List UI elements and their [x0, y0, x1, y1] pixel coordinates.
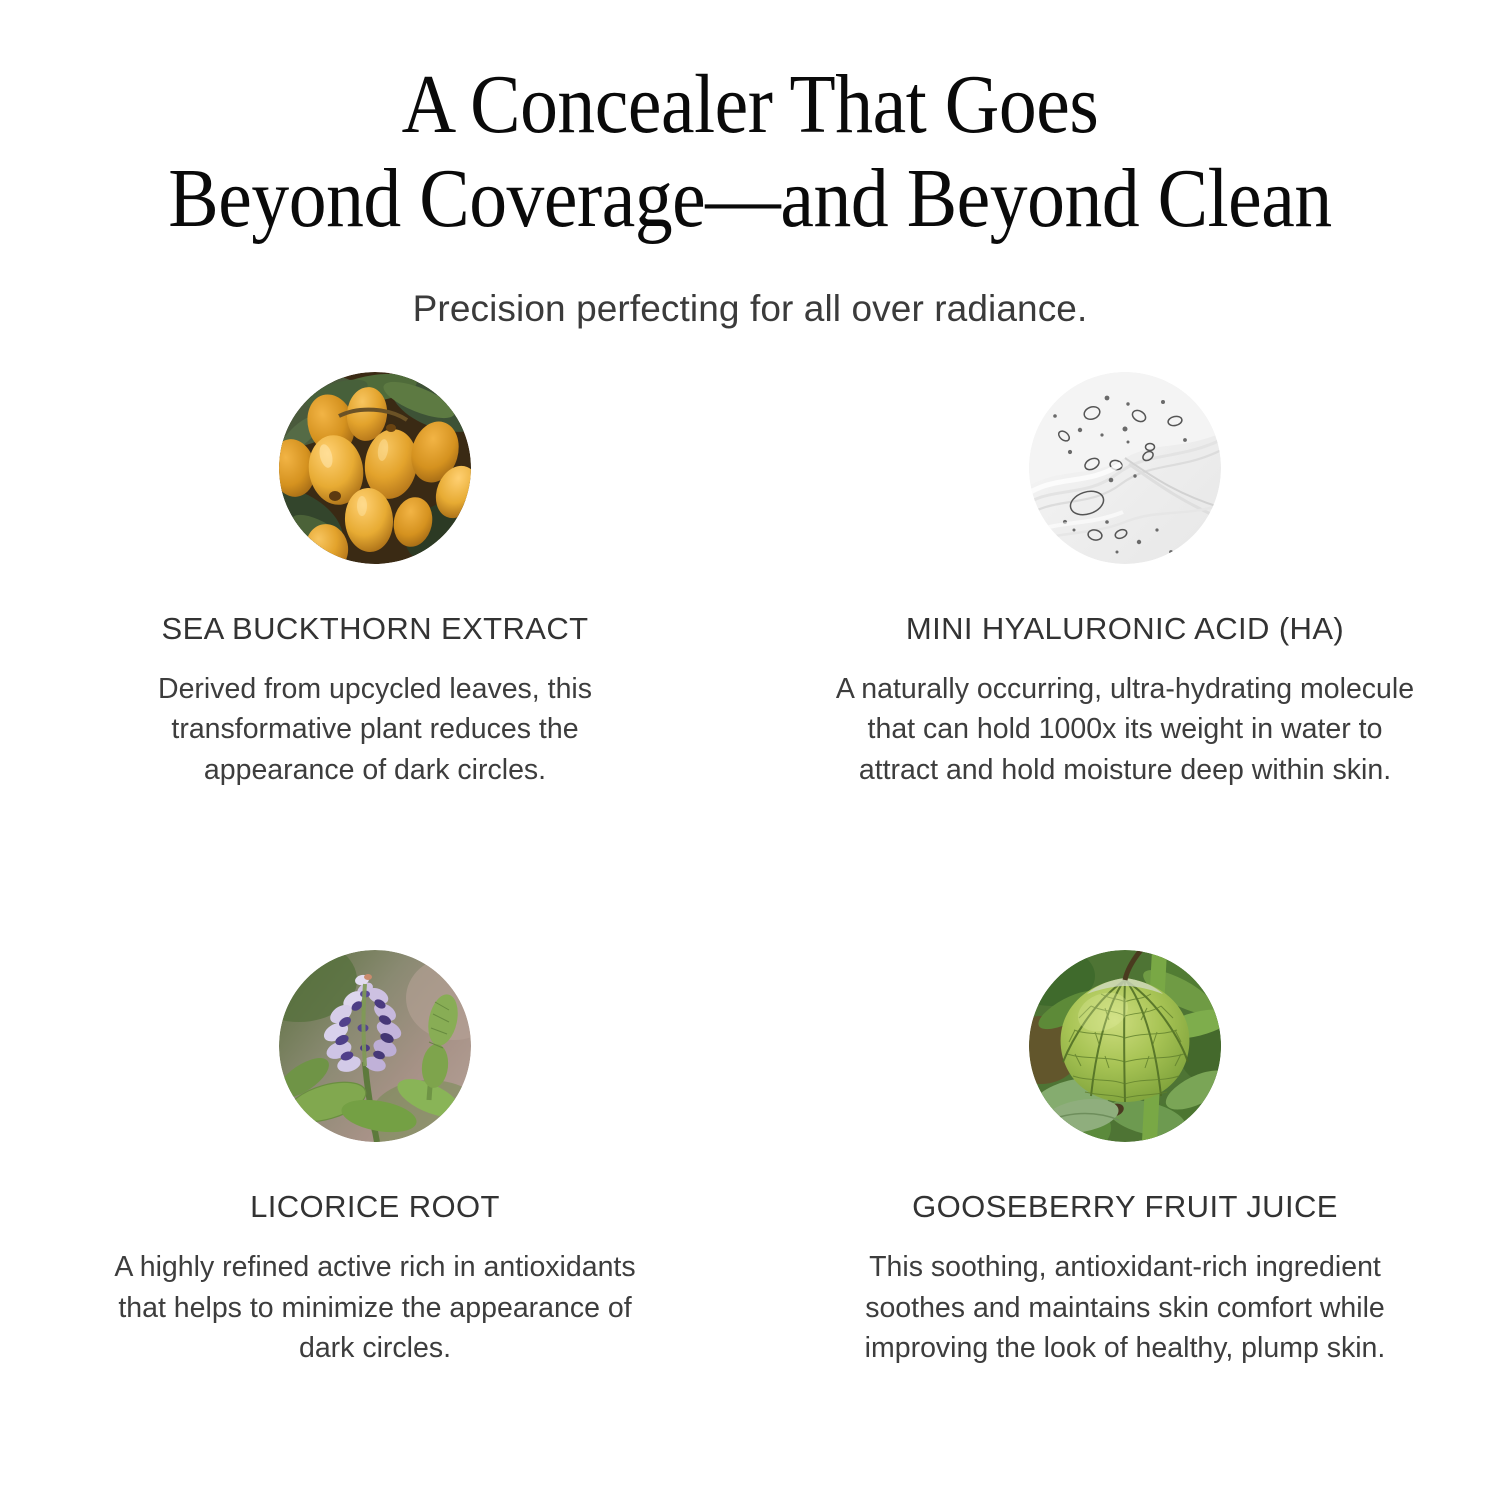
ingredient-card-licorice-root: LICORICE ROOT A highly refined active ri… [0, 950, 750, 1368]
licorice-root-flower-photo [279, 950, 471, 1142]
gooseberry-fruit-photo [1029, 950, 1221, 1142]
ingredient-title: MINI HYALURONIC ACID (HA) [906, 611, 1344, 647]
ingredient-grid: SEA BUCKTHORN EXTRACT Derived from upcyc… [0, 372, 1500, 1369]
ingredient-description: A highly refined active rich in antioxid… [93, 1247, 658, 1368]
ingredient-title: LICORICE ROOT [250, 1189, 500, 1225]
sea-buckthorn-berries-photo [279, 372, 471, 564]
ingredient-title: GOOSEBERRY FRUIT JUICE [912, 1189, 1338, 1225]
ingredient-description: This soothing, antioxidant-rich ingredie… [828, 1247, 1423, 1368]
ingredient-benefits-page: A Concealer That Goes Beyond Coverage—an… [0, 0, 1500, 1500]
ingredient-title: SEA BUCKTHORN EXTRACT [162, 611, 589, 647]
ingredient-card-gooseberry: GOOSEBERRY FRUIT JUICE This soothing, an… [750, 950, 1500, 1368]
page-title: A Concealer That Goes Beyond Coverage—an… [75, 58, 1425, 246]
headline-line-1: A Concealer That Goes [75, 58, 1425, 152]
ingredient-description: A naturally occurring, ultra-hydrating m… [835, 669, 1415, 790]
ingredient-card-sea-buckthorn: SEA BUCKTHORN EXTRACT Derived from upcyc… [0, 372, 750, 790]
hyaluronic-acid-gel-texture-photo [1029, 372, 1221, 564]
headline-line-2: Beyond Coverage—and Beyond Clean [75, 152, 1425, 246]
ingredient-description: Derived from upcycled leaves, this trans… [95, 669, 655, 790]
page-subtitle: Precision perfecting for all over radian… [0, 288, 1500, 330]
ingredient-card-hyaluronic-acid: MINI HYALURONIC ACID (HA) A naturally oc… [750, 372, 1500, 790]
page-header: A Concealer That Goes Beyond Coverage—an… [0, 0, 1500, 330]
